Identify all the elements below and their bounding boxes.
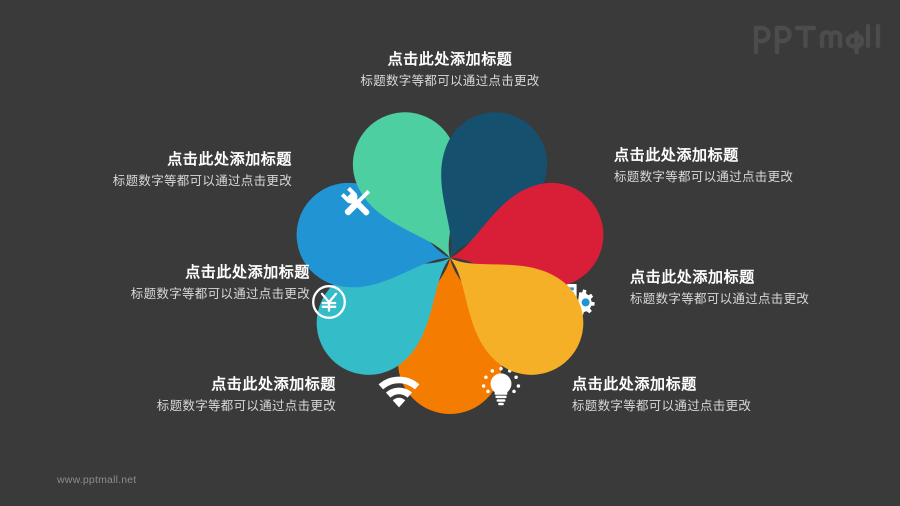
petal-label-6[interactable]: 点击此处添加标题 标题数字等都可以通过点击更改 [62, 152, 292, 188]
petal-subtitle-1: 标题数字等都可以通过点击更改 [614, 171, 793, 184]
slide-canvas: 点击此处添加标题 标题数字等都可以通过点击更改 点击此处添加标题 标题数字等都可… [0, 0, 900, 506]
petal-subtitle-6: 标题数字等都可以通过点击更改 [62, 175, 292, 188]
lightbulb-icon [482, 367, 520, 405]
petal-6-upper-left[interactable] [341, 187, 605, 396]
factory-gear-icon [552, 284, 595, 315]
petal-label-1[interactable]: 点击此处添加标题 标题数字等都可以通过点击更改 [614, 148, 793, 184]
petal-label-0[interactable]: 点击此处添加标题 标题数字等都可以通过点击更改 [298, 52, 602, 88]
petal-subtitle-2: 标题数字等都可以通过点击更改 [630, 293, 809, 306]
petal-title-4: 点击此处添加标题 [68, 377, 336, 393]
petal-title-6: 点击此处添加标题 [62, 152, 292, 168]
petal-4-lower-left[interactable] [379, 95, 565, 408]
petal-subtitle-0: 标题数字等都可以通过点击更改 [298, 75, 602, 88]
pptmall-logo [752, 22, 884, 56]
petal-1-upper-right[interactable] [296, 177, 547, 396]
petal-title-1: 点击此处添加标题 [614, 148, 793, 164]
network-shield-icon [515, 177, 546, 212]
petal-label-2[interactable]: 点击此处添加标题 标题数字等都可以通过点击更改 [630, 270, 809, 306]
petal-subtitle-4: 标题数字等都可以通过点击更改 [68, 400, 336, 413]
petal-title-3: 点击此处添加标题 [572, 377, 751, 393]
petal-5-left[interactable] [313, 173, 613, 318]
petal-subtitle-5: 标题数字等都可以通过点击更改 [48, 288, 310, 301]
wifi-icon [379, 377, 420, 408]
petal-label-4[interactable]: 点击此处添加标题 标题数字等都可以通过点击更改 [68, 377, 336, 413]
petal-label-5[interactable]: 点击此处添加标题 标题数字等都可以通过点击更改 [48, 265, 310, 301]
petal-title-0: 点击此处添加标题 [298, 52, 602, 68]
yen-currency-icon [313, 286, 345, 318]
petal-title-5: 点击此处添加标题 [48, 265, 310, 281]
petal-3-lower-right[interactable] [335, 95, 520, 405]
petal-subtitle-3: 标题数字等都可以通过点击更改 [572, 400, 751, 413]
footer-url[interactable]: www.pptmall.net [57, 474, 136, 486]
petal-2-right[interactable] [286, 173, 594, 315]
petal-label-3[interactable]: 点击此处添加标题 标题数字等都可以通过点击更改 [572, 377, 751, 413]
hands-heart-icon [432, 138, 468, 171]
petal-title-2: 点击此处添加标题 [630, 270, 809, 286]
tools-wrench-screwdriver-icon [341, 187, 373, 219]
petal-0-top[interactable] [398, 138, 502, 414]
